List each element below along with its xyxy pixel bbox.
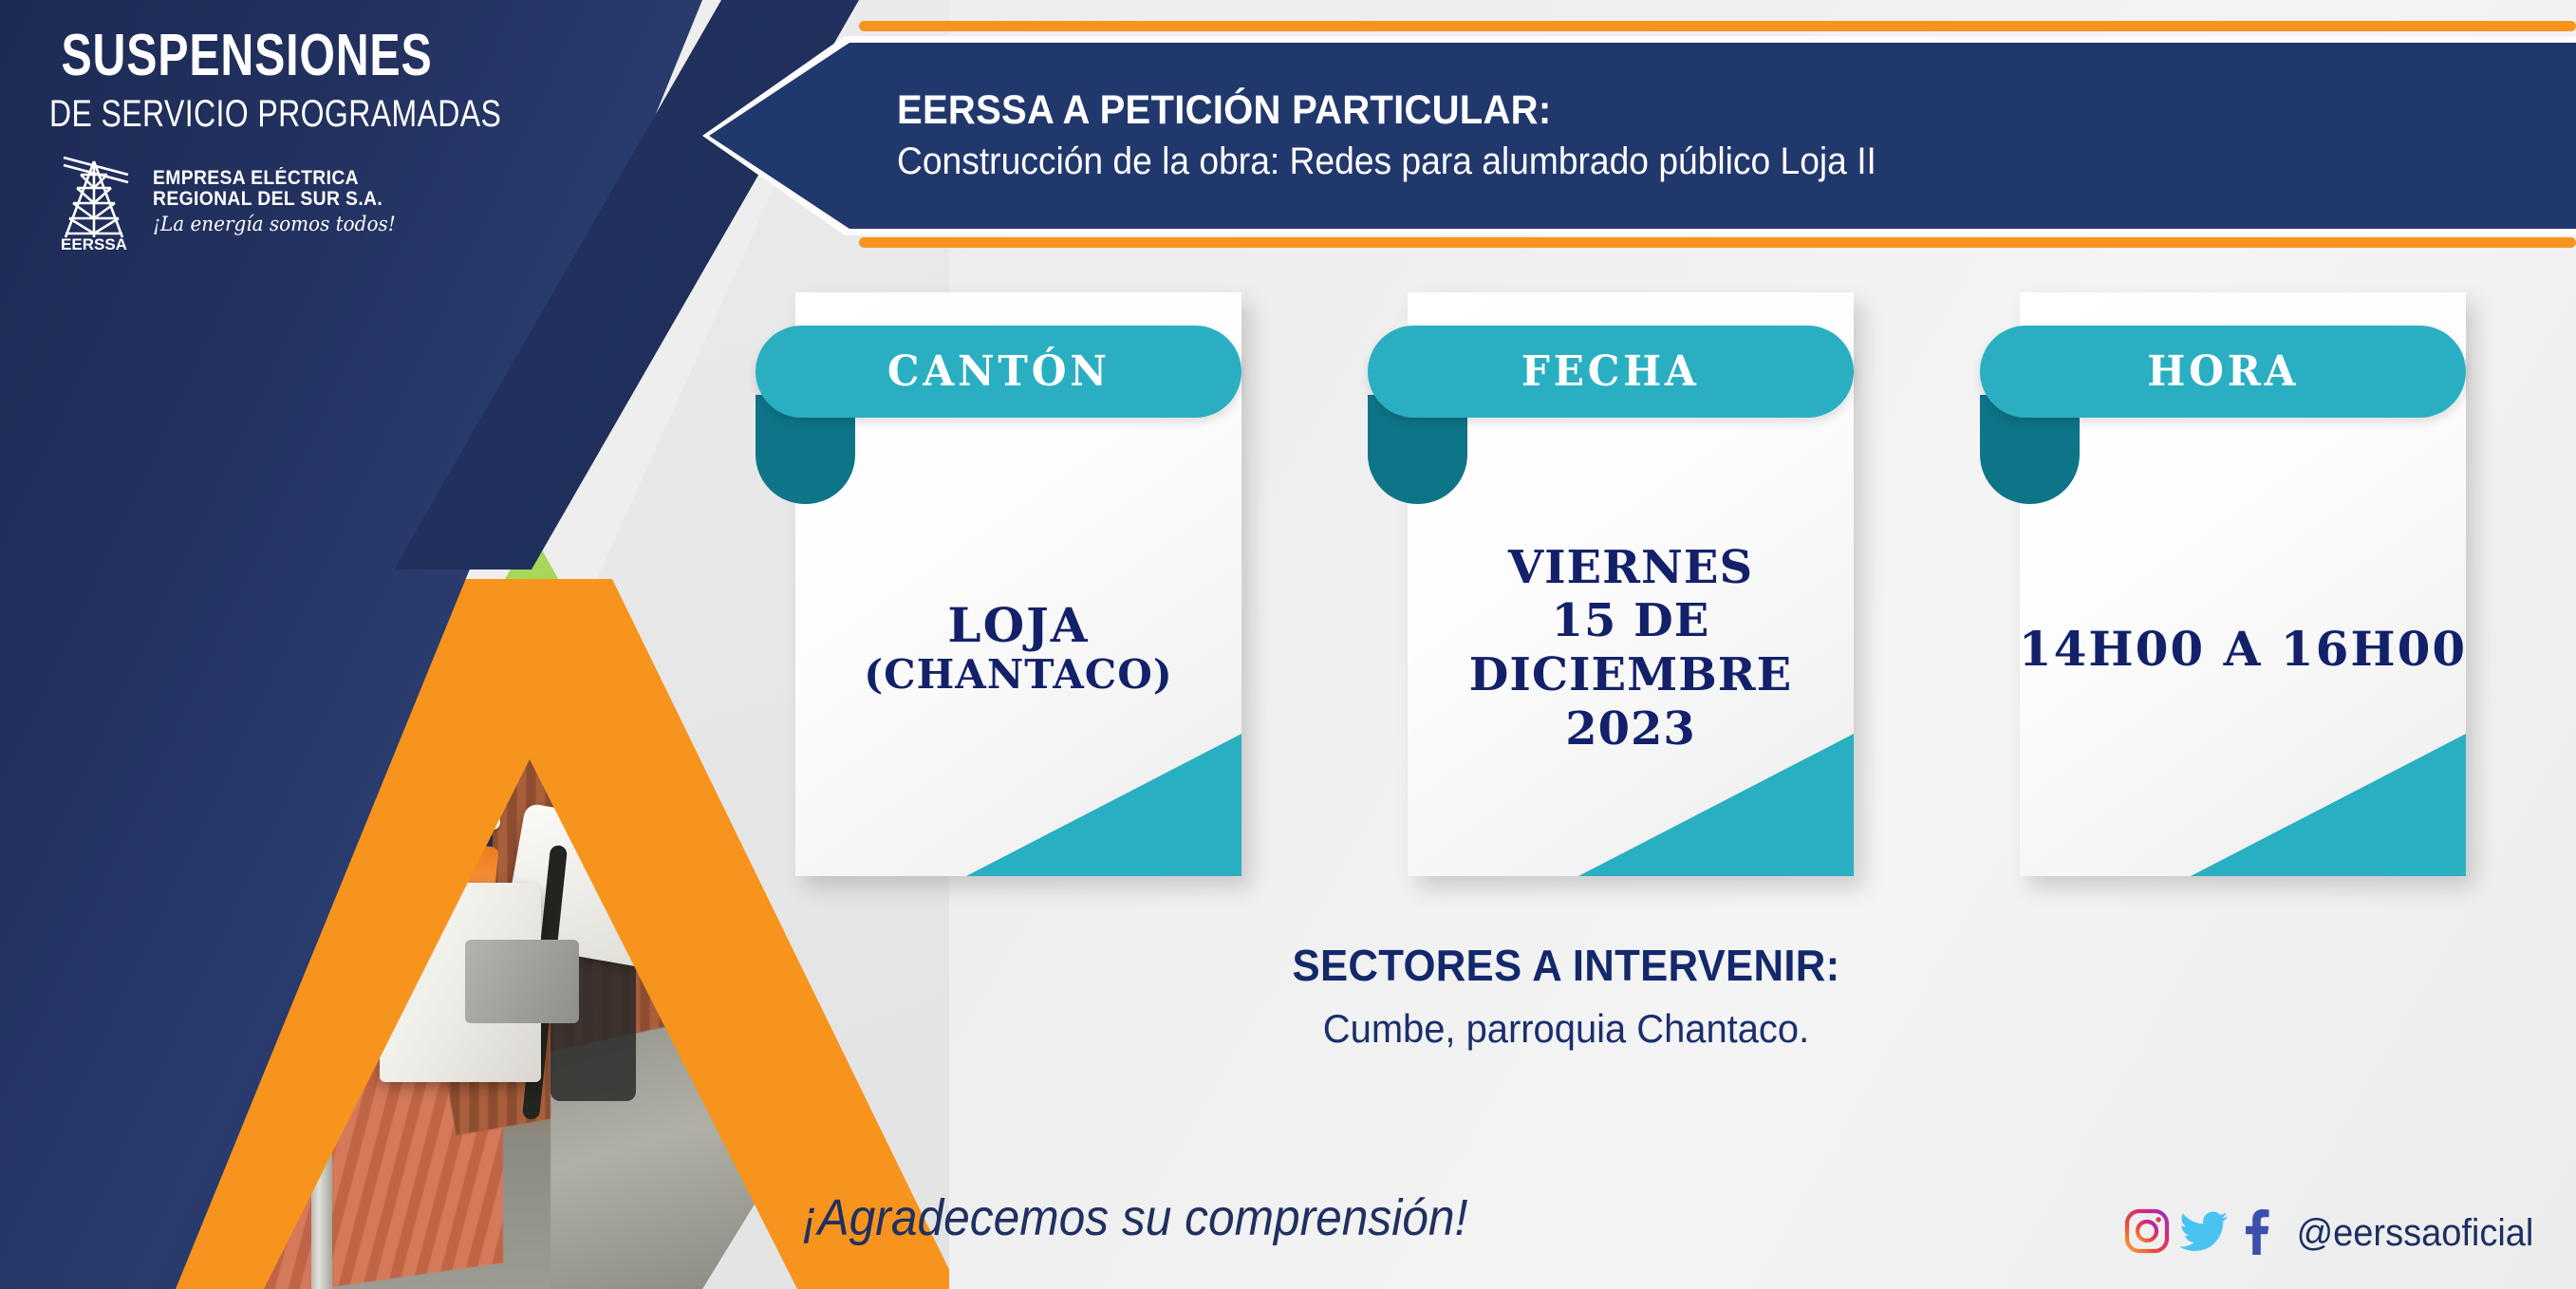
subheadline: DE SERVICIO PROGRAMADAS [49, 95, 444, 133]
info-cards: CANTÓN LOJA (CHANTACO) FECHA VIERNES 15 … [795, 285, 2466, 892]
sectors-section: SECTORES A INTERVENIR: Cumbe, parroquia … [854, 940, 2278, 1052]
card-fecha: FECHA VIERNES 15 DE DICIEMBRE 2023 [1408, 292, 1854, 876]
card-header-label: CANTÓN [887, 347, 1111, 396]
logo-line-1: EMPRESA ELÉCTRICA [153, 168, 388, 189]
logo-slogan: ¡La energía somos todos! [153, 214, 396, 234]
orange-rule-top [859, 21, 2576, 31]
card-value-line: VIERNES [1508, 541, 1753, 595]
card-content: LOJA (CHANTACO) [795, 449, 1241, 848]
thanks-message: ¡Agradecemos su comprensión! [802, 1188, 1467, 1247]
social-handle[interactable]: @eerssaoficial [2297, 1212, 2534, 1255]
headline: SUSPENSIONES [54, 27, 439, 85]
card-header-ribbon: HORA [1980, 326, 2466, 418]
card-content: VIERNES 15 DE DICIEMBRE 2023 [1408, 449, 1854, 848]
sectors-body: Cumbe, parroquia Chantaco. [890, 1006, 2243, 1052]
card-content: 14H00 A 16H00 [2020, 449, 2466, 848]
banner-subtitle: Construcción de la obra: Redes para alum… [897, 139, 2458, 184]
banner-body: EERSSA A PETICIÓN PARTICULAR: Construcci… [709, 43, 2576, 229]
card-value-line: (CHANTACO) [864, 652, 1172, 697]
instagram-icon[interactable] [2123, 1207, 2171, 1260]
social-links: @eerssaoficial [2123, 1207, 2540, 1260]
poster-root: SUSPENSIONES DE SERVICIO PROGRAMADAS [0, 0, 2576, 1289]
card-header-label: HORA [2147, 347, 2299, 396]
card-canton: CANTÓN LOJA (CHANTACO) [795, 292, 1241, 876]
logo-line-2: REGIONAL DEL SUR S.A. [153, 189, 388, 210]
brand-heading: SUSPENSIONES DE SERVICIO PROGRAMADAS [0, 27, 494, 133]
card-header-label: FECHA [1521, 347, 1700, 396]
card-value-line: 2023 [1565, 702, 1696, 757]
transmission-tower-icon: EERSSA [52, 150, 136, 252]
eerssa-logo: EERSSA EMPRESA ELÉCTRICA REGIONAL DEL SU… [52, 150, 408, 252]
card-value-line: LOJA [947, 599, 1089, 652]
card-header-ribbon: CANTÓN [756, 326, 1241, 418]
card-header-ribbon: FECHA [1368, 326, 1854, 418]
banner-title: EERSSA A PETICIÓN PARTICULAR: [897, 87, 2458, 133]
orange-rule-bottom [859, 237, 2576, 248]
facebook-icon[interactable] [2239, 1207, 2271, 1260]
header-banner: EERSSA A PETICIÓN PARTICULAR: Construcci… [702, 21, 2576, 249]
twitter-icon[interactable] [2180, 1207, 2230, 1260]
logo-mark-text: EERSSA [61, 235, 127, 252]
card-value-line: 15 DE DICIEMBRE [1408, 594, 1854, 701]
card-hora: HORA 14H00 A 16H00 [2020, 292, 2466, 876]
card-value-line: 14H00 A 16H00 [2019, 621, 2467, 677]
sectors-title: SECTORES A INTERVENIR: [890, 940, 2243, 991]
